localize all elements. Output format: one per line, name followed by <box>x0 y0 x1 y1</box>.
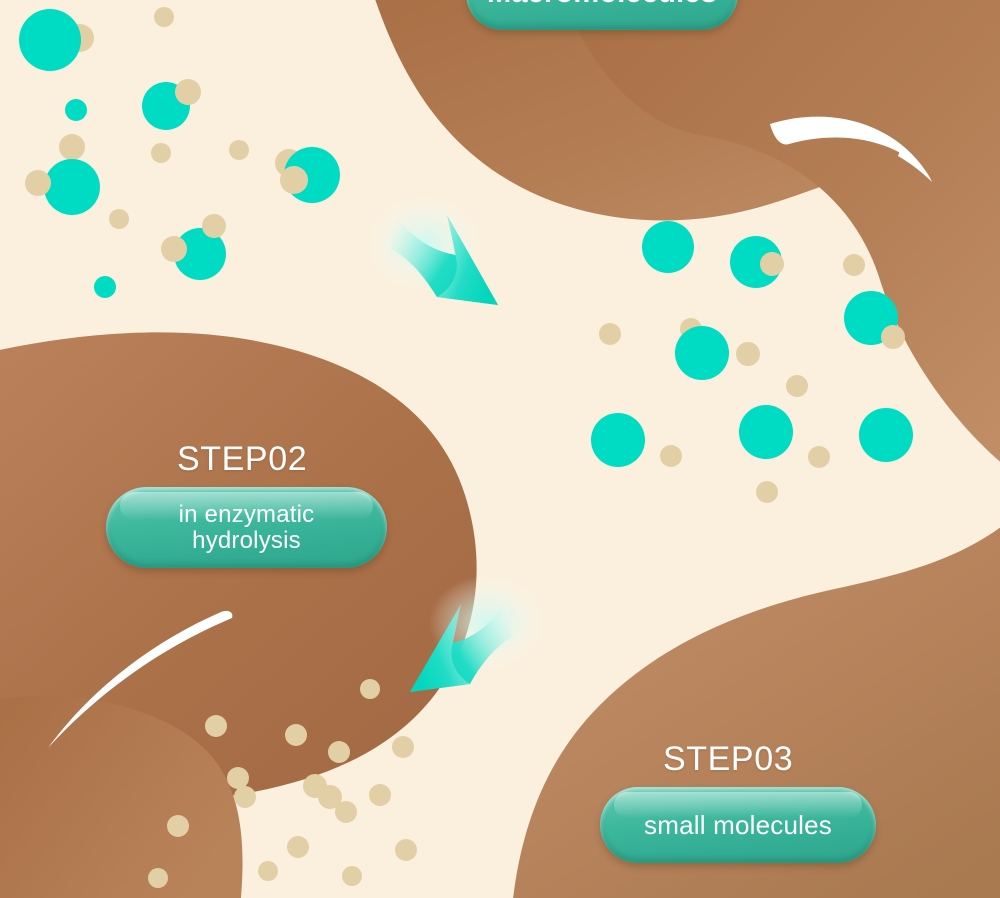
step-label-02: STEP02 <box>177 440 307 479</box>
background-illustration <box>0 0 1000 898</box>
pill-macromolecules[interactable]: Macromolecules <box>466 0 738 30</box>
infographic-canvas: Macromolecules STEP02 in enzymatic hydro… <box>0 0 1000 898</box>
pill-in-enzymatic-hydrolysis[interactable]: in enzymatic hydrolysis <box>106 487 387 568</box>
step-label-03: STEP03 <box>663 740 793 779</box>
pill-small-molecules[interactable]: small molecules <box>600 787 876 863</box>
